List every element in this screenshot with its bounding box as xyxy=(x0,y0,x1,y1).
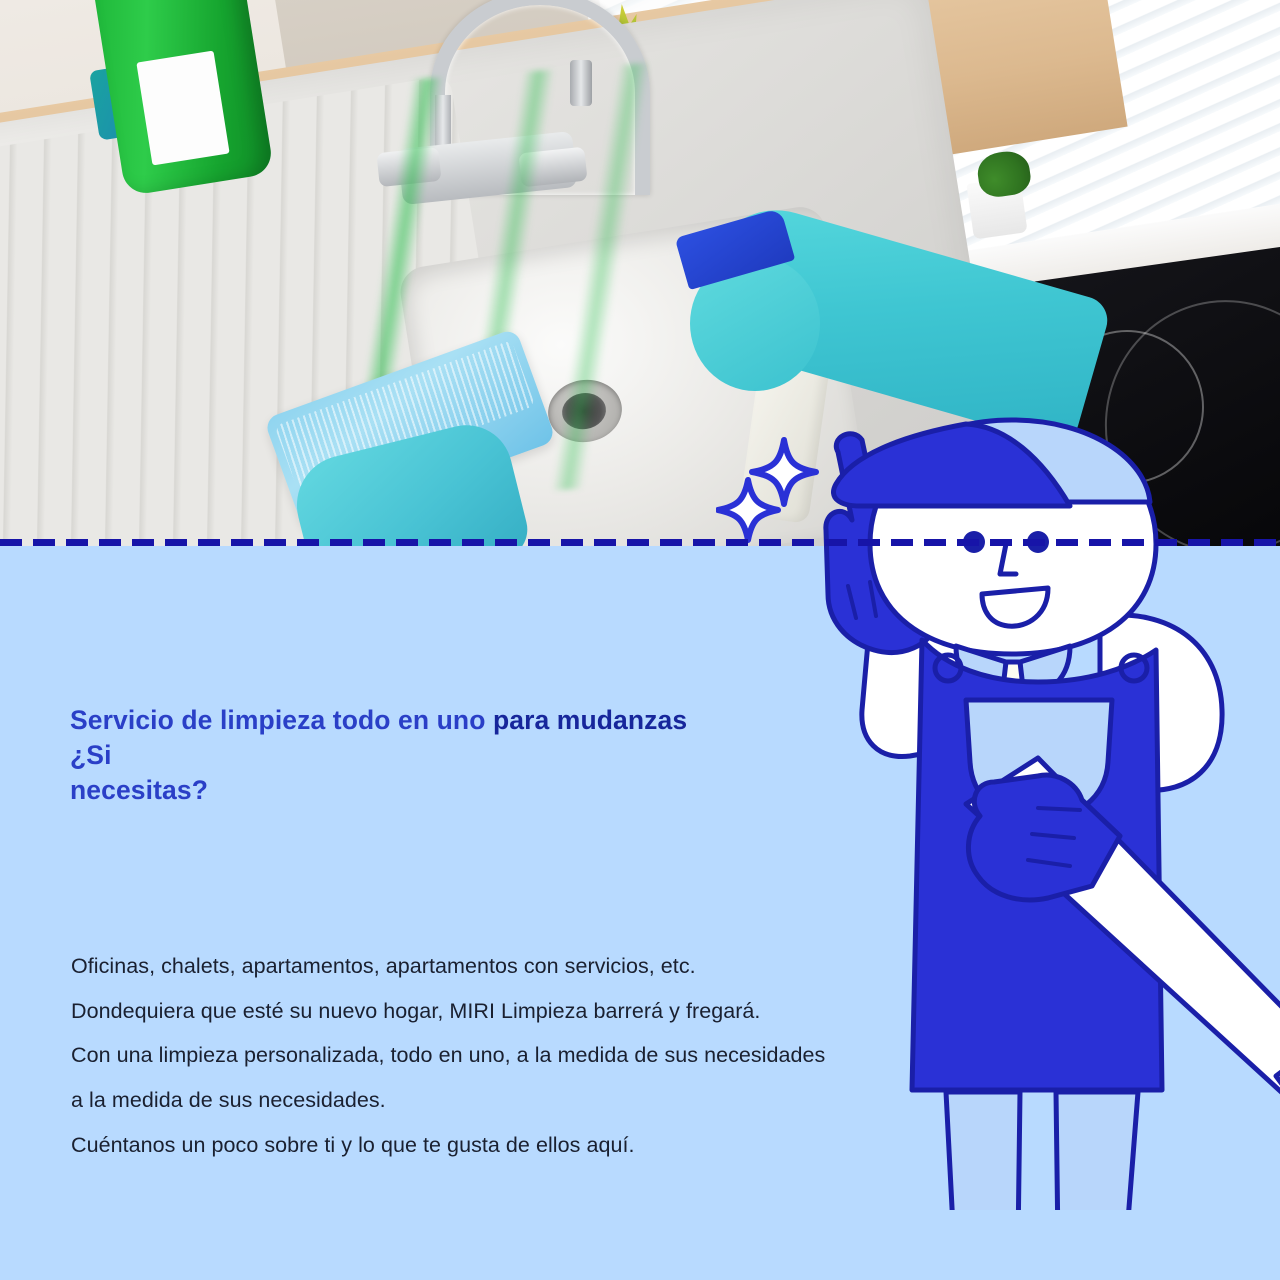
dashed-divider xyxy=(0,539,1280,546)
mascot-leg-right xyxy=(1056,1092,1138,1210)
headline-part-1: Servicio de limpieza todo en uno xyxy=(70,705,493,735)
sparkle-group xyxy=(716,436,856,556)
mascot-leg-left xyxy=(946,1092,1020,1210)
bottle-label xyxy=(136,51,229,166)
sparkle-large-icon xyxy=(752,440,816,504)
headline: Servicio de limpieza todo en uno para mu… xyxy=(70,703,830,809)
headline-part-4: necesitas? xyxy=(70,775,208,805)
faucet-spout xyxy=(570,60,592,106)
sparkle-small-icon xyxy=(718,480,778,540)
faucet-handle-right xyxy=(518,147,587,188)
faucet-handle-left xyxy=(376,147,441,187)
headline-part-3: ¿Si xyxy=(70,740,112,770)
poster-root: Servicio de limpieza todo en uno para mu… xyxy=(0,0,1280,1280)
headline-part-2: para mudanzas xyxy=(493,705,687,735)
